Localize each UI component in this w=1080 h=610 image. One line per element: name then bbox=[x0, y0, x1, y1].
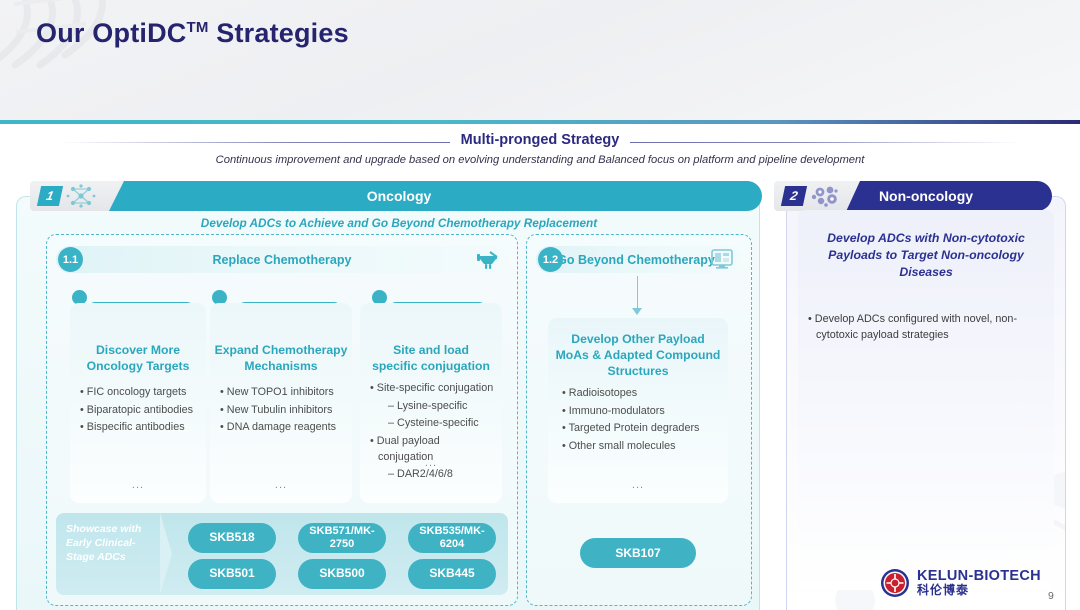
oncology-subtitle: Develop ADCs to Achieve and Go Beyond Ch… bbox=[36, 216, 762, 230]
pipeline-pill[interactable]: SKB445 bbox=[408, 559, 496, 589]
pipeline-pill[interactable]: SKB535/MK-6204 bbox=[408, 523, 496, 553]
page-title-tail: Strategies bbox=[209, 18, 349, 48]
list-item: DNA damage reagents bbox=[220, 420, 346, 436]
cell-cluster-icon bbox=[810, 183, 840, 209]
pipeline-pill[interactable]: SKB500 bbox=[298, 559, 386, 589]
pipeline-pill[interactable]: SKB518 bbox=[188, 523, 276, 553]
syringe-icon bbox=[476, 248, 500, 270]
column-bullet-list: RadioisotopesImmuno-modulatorsTargeted P… bbox=[562, 386, 722, 457]
non-oncology-tag: 2 bbox=[774, 181, 860, 211]
list-item: Site-specific conjugation bbox=[370, 381, 496, 397]
page-title: Our OptiDCTM Strategies bbox=[36, 18, 349, 49]
slide-header: Our OptiDCTM Strategies bbox=[0, 0, 1080, 122]
list-item: Cysteine-specific bbox=[370, 416, 496, 432]
pipeline-pill-skb107[interactable]: SKB107 bbox=[580, 538, 696, 568]
strategy-title: Multi-pronged Strategy bbox=[0, 132, 1080, 148]
page-number: 9 bbox=[1048, 590, 1054, 602]
replace-chemotherapy-label: Replace Chemotherapy bbox=[56, 253, 508, 267]
connector-line bbox=[637, 276, 638, 310]
list-item: FIC oncology targets bbox=[80, 385, 200, 401]
list-item: Develop ADCs configured with novel, non-… bbox=[806, 312, 1050, 343]
list-item: Other small molecules bbox=[562, 439, 722, 455]
kelun-biotech-logo: KELUN-BIOTECH 科伦博泰 bbox=[880, 568, 1041, 598]
go-beyond-chemotherapy-bar: 1.2 Go Beyond Chemotherapy bbox=[536, 246, 742, 273]
list-item: Bispecific antibodies bbox=[80, 420, 200, 436]
non-oncology-bar-label: Non-oncology bbox=[879, 188, 973, 204]
replace-chemotherapy-bar: 1.1 Replace Chemotherapy bbox=[56, 246, 508, 273]
strategy-band: Multi-pronged Strategy Continuous improv… bbox=[0, 126, 1080, 178]
column-ellipsis: ... bbox=[70, 479, 206, 491]
column-bullet-list: FIC oncology targetsBiparatopic antibodi… bbox=[80, 385, 200, 438]
pipeline-label: Showcase with Early Clinical-Stage ADCs bbox=[66, 523, 158, 565]
list-item: Targeted Protein degraders bbox=[562, 421, 722, 437]
column-ellipsis: ... bbox=[548, 479, 728, 491]
column-conjugation: Site and loadspecific conjugation Site-s… bbox=[360, 303, 502, 503]
list-item: DAR2/4/6/8 bbox=[370, 467, 496, 483]
column-ellipsis: ... bbox=[360, 457, 502, 469]
go-beyond-number: 1.2 bbox=[538, 247, 563, 272]
early-clinical-pipeline-strip: Showcase with Early Clinical-Stage ADCs … bbox=[56, 513, 508, 595]
kelun-logo-mark-icon bbox=[880, 568, 910, 598]
column-heading: Site and loadspecific conjugation bbox=[360, 343, 502, 375]
strategy-subtitle: Continuous improvement and upgrade based… bbox=[0, 154, 1080, 166]
column-go-beyond: Develop Other PayloadMoAs & Adapted Comp… bbox=[548, 318, 728, 503]
page-title-main: Our OptiDC bbox=[36, 18, 187, 48]
pipeline-pill[interactable]: SKB571/MK-2750 bbox=[298, 523, 386, 553]
connector-arrowhead bbox=[632, 308, 642, 315]
header-divider-rule bbox=[0, 120, 1080, 124]
list-item: Immuno-modulators bbox=[562, 404, 722, 420]
molecule-cluster-icon bbox=[66, 183, 96, 209]
list-item: New Tubulin inhibitors bbox=[220, 403, 346, 419]
oncology-tag-number: 1 bbox=[37, 186, 63, 206]
column-heading: Discover MoreOncology Targets bbox=[70, 343, 206, 375]
column-heading: Develop Other PayloadMoAs & Adapted Comp… bbox=[548, 332, 728, 380]
non-oncology-bullet-list: Develop ADCs configured with novel, non-… bbox=[806, 312, 1050, 343]
column-ellipsis: ... bbox=[210, 479, 352, 491]
logo-text-chinese: 科伦博泰 bbox=[917, 584, 1041, 597]
oncology-bar-label: Oncology bbox=[367, 188, 432, 204]
column-heading: Expand ChemotherapyMechanisms bbox=[210, 343, 352, 375]
logo-text-english: KELUN-BIOTECH bbox=[917, 569, 1041, 584]
non-oncology-heading: Develop ADCs with Non-cytotoxic Payloads… bbox=[800, 230, 1052, 281]
list-item: Biparatopic antibodies bbox=[80, 403, 200, 419]
list-item: New TOPO1 inhibitors bbox=[220, 385, 346, 401]
oncology-header-bar: Oncology bbox=[36, 181, 762, 211]
list-item: Lysine-specific bbox=[370, 399, 496, 415]
list-item: Radioisotopes bbox=[562, 386, 722, 402]
column-novel-targets: Discover MoreOncology Targets FIC oncolo… bbox=[70, 303, 206, 503]
column-bullet-list: New TOPO1 inhibitorsNew Tubulin inhibito… bbox=[220, 385, 346, 438]
non-oncology-tag-number: 2 bbox=[781, 186, 807, 206]
lab-monitor-icon bbox=[710, 248, 734, 270]
pipeline-arrow-shape bbox=[160, 513, 182, 595]
replace-chemotherapy-number: 1.1 bbox=[58, 247, 83, 272]
column-bullet-list: Site-specific conjugationLysine-specific… bbox=[370, 381, 496, 485]
pipeline-pill[interactable]: SKB501 bbox=[188, 559, 276, 589]
oncology-tag: 1 bbox=[30, 181, 124, 211]
column-payload-moa: Expand ChemotherapyMechanisms New TOPO1 … bbox=[210, 303, 352, 503]
trademark-symbol: TM bbox=[187, 19, 209, 36]
